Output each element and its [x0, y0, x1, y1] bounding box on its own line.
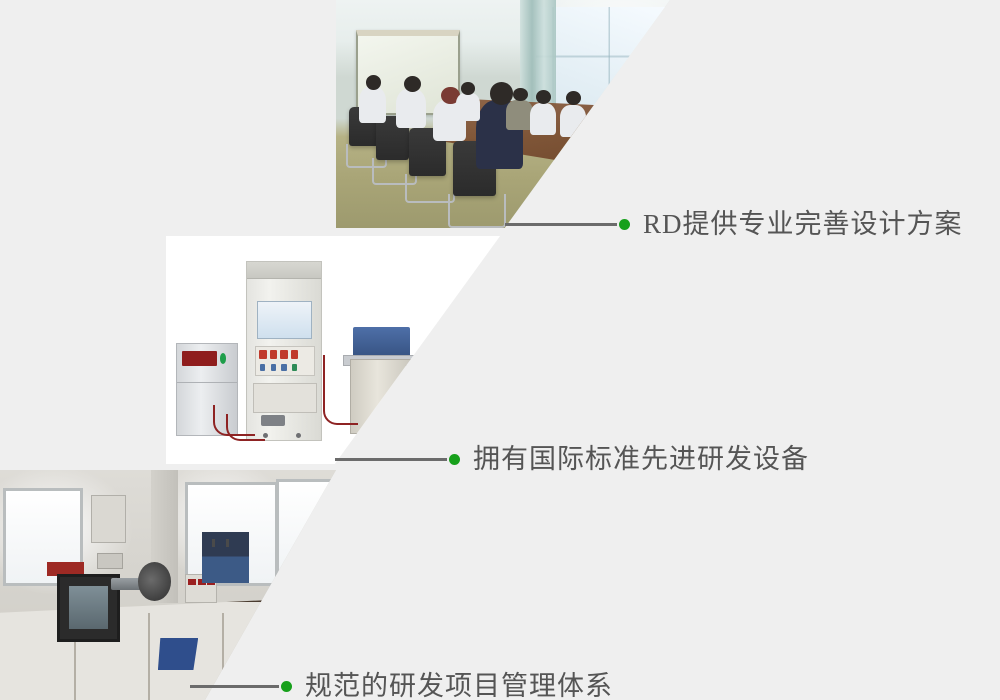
feature-caption-text: 规范的研发项目管理体系: [305, 673, 613, 700]
connector-line: [190, 685, 279, 688]
control-button: [270, 350, 278, 359]
person-head: [536, 90, 551, 104]
rack-label-header: [247, 262, 320, 279]
rig-post: [226, 539, 229, 547]
control-button: [271, 364, 276, 371]
feature-caption-3: 规范的研发项目管理体系: [190, 673, 613, 700]
control-button: [280, 350, 288, 359]
feature-caption-text: RD提供专业完善设计方案: [643, 211, 963, 238]
wall-outlet: [97, 553, 123, 569]
person: [560, 105, 587, 137]
power-cable: [226, 414, 265, 441]
person-head: [593, 103, 608, 117]
caster-wheel: [406, 432, 411, 437]
window-wall: [536, 7, 670, 112]
digital-display: [182, 351, 217, 366]
feature-photo-1: [336, 0, 670, 228]
feature-showcase-banner: RD提供专业完善设计方案 拥有国际标准先进研发设备 规范的研发项目管理体系: [0, 0, 1000, 700]
bullet-dot-icon: [449, 454, 460, 465]
bullet-dot-icon: [619, 219, 630, 230]
feature-photo-3: [0, 470, 336, 700]
control-button: [259, 350, 267, 359]
measurement-rig: [202, 532, 249, 583]
equipment-cart: [350, 359, 419, 434]
feature-caption-text: 拥有国际标准先进研发设备: [473, 446, 809, 473]
person: [530, 103, 557, 135]
rig-post: [212, 539, 215, 547]
test-motor: [138, 562, 172, 601]
wall-document: [91, 495, 127, 543]
control-button: [281, 364, 286, 371]
blue-storage-bin: [158, 638, 198, 670]
status-led: [220, 353, 227, 364]
caster-wheel: [296, 433, 301, 438]
power-cable: [323, 355, 358, 425]
feature-photo-2: [166, 236, 500, 464]
bullet-dot-icon: [281, 681, 292, 692]
person: [359, 87, 386, 123]
display-led: [188, 579, 196, 585]
divider: [177, 382, 237, 383]
equipment-photo: [166, 236, 500, 464]
rack-lower-module: [253, 383, 317, 413]
feature-caption-1: RD提供专业完善设计方案: [505, 211, 963, 238]
feature-caption-2: 拥有国际标准先进研发设备: [335, 446, 809, 473]
connector-line: [335, 458, 447, 461]
person: [587, 116, 614, 148]
connector-line: [505, 223, 617, 226]
rack-control-panel: [255, 346, 316, 376]
monitor-screen: [69, 586, 108, 628]
rack-monitor: [257, 301, 312, 339]
person: [396, 89, 426, 128]
control-button: [291, 350, 299, 359]
control-button: [260, 364, 265, 371]
caster-wheel: [357, 432, 362, 437]
meeting-room-photo: [336, 0, 670, 228]
control-button: [292, 364, 297, 371]
lab-window: [276, 479, 336, 582]
person-head: [461, 82, 474, 95]
person: [456, 93, 479, 120]
person-head: [366, 75, 381, 90]
lab-bench-photo: [0, 470, 336, 700]
